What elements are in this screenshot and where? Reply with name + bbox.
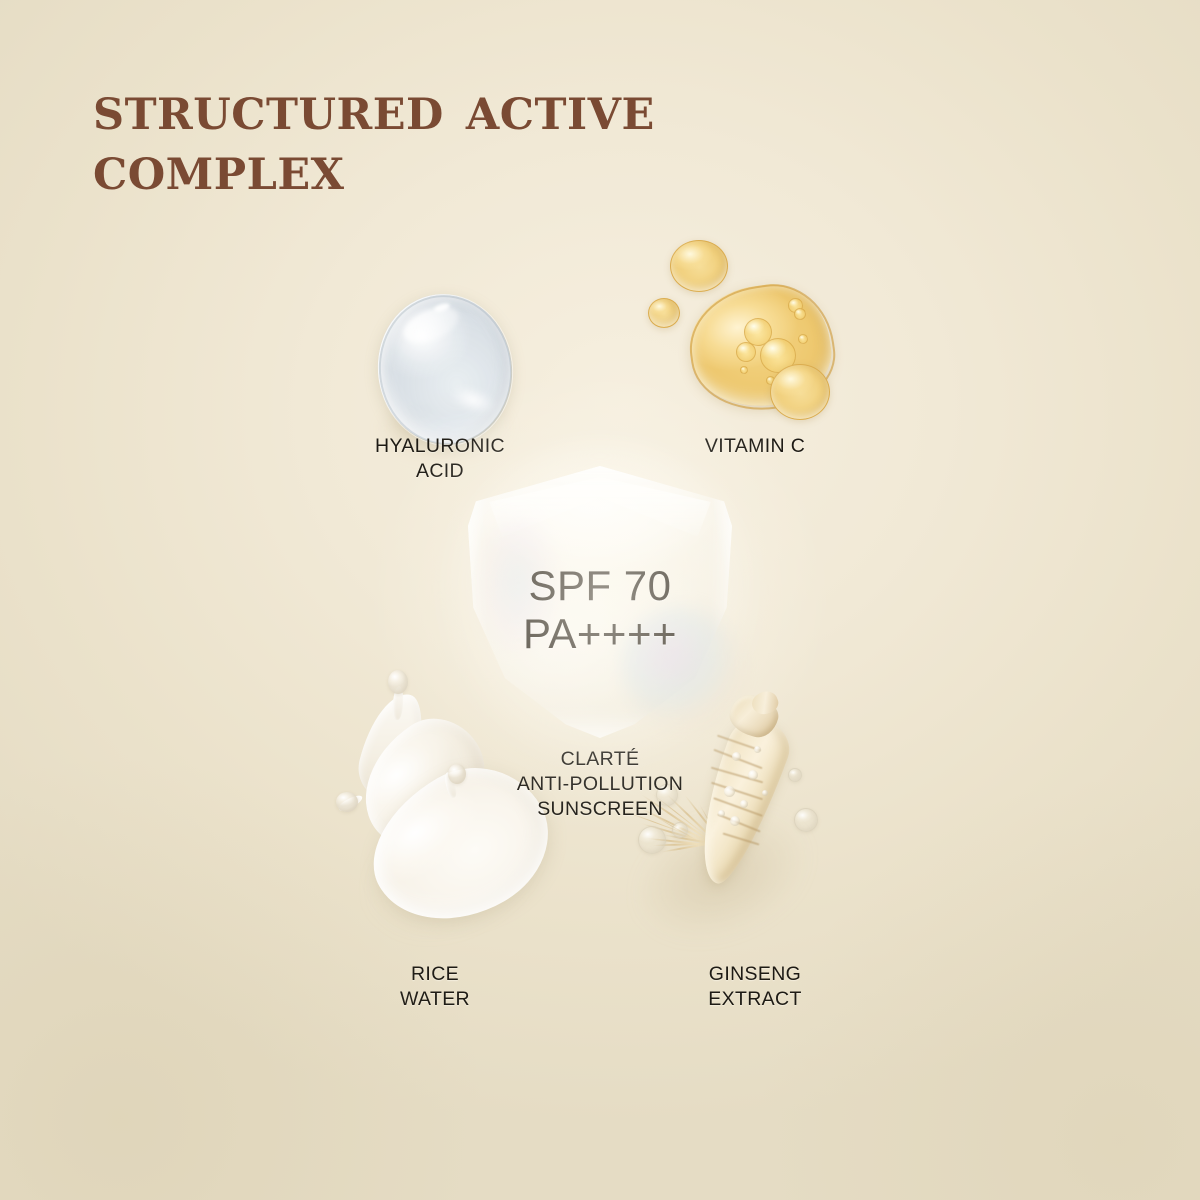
- oil-droplet-icon: [670, 240, 728, 292]
- product-shield: SPF 70 PA++++: [468, 466, 732, 738]
- oil-droplet-icon: [770, 364, 830, 420]
- water-droplet: [638, 826, 666, 854]
- oil-bubble: [794, 308, 806, 320]
- spf-rating-text: SPF 70 PA++++: [468, 562, 732, 658]
- water-bead: [762, 790, 768, 796]
- ingredient-label-rice-water: RICE WATER: [305, 962, 565, 1012]
- splash-droplet: [336, 792, 358, 812]
- water-bead: [754, 746, 761, 753]
- water-droplet: [788, 768, 802, 782]
- product-ingredient-infographic: Structured Active Complex HYALURONIC ACI…: [0, 0, 1200, 1200]
- oil-bubble: [798, 334, 808, 344]
- ingredient-vitamin-c: [648, 238, 858, 428]
- water-droplet: [794, 808, 818, 832]
- ingredient-label-ginseng-extract: GINSENG EXTRACT: [625, 962, 885, 1012]
- oil-bubble: [736, 342, 756, 362]
- splash-droplet: [388, 670, 408, 694]
- water-droplet: [672, 822, 688, 838]
- oil-droplet-small-icon: [648, 298, 680, 328]
- page-title: Structured Active Complex: [93, 78, 853, 197]
- product-name-label: CLARTÉ ANTI-POLLUTION SUNSCREEN: [450, 747, 750, 822]
- oil-bubble: [740, 366, 748, 374]
